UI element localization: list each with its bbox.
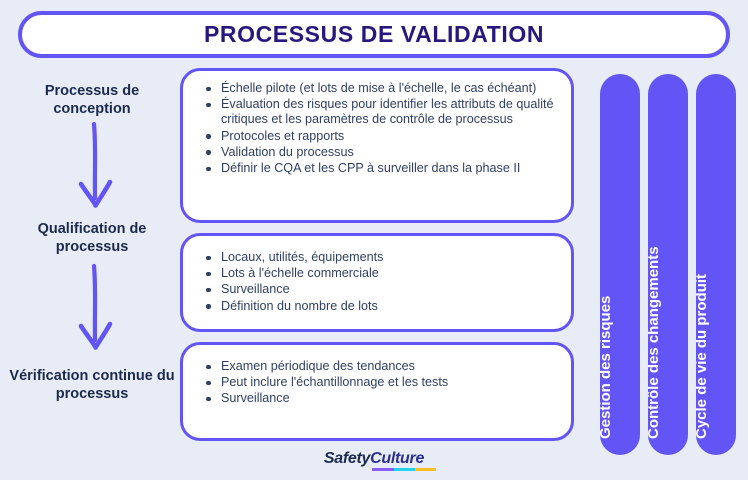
safetyculture-logo: SafetyCulture [0,450,748,468]
list-item: Surveillance [221,282,555,297]
pillar-product-lifecycle: Cycle de vie du produit [696,74,736,455]
pillar-label: Contrôle des changements [648,246,661,439]
list-item: Peut inclure l'échantillonnage et les te… [221,375,555,390]
list-item: Définition du nombre de lots [221,299,555,314]
list-item: Examen périodique des tendances [221,359,555,374]
bullet-list-qualification: Locaux, utilités, équipements Lots à l'é… [183,236,571,325]
logo-underline [372,468,436,471]
logo-underline-segment-purple [372,468,394,471]
pillar-label: Gestion des risques [600,296,613,439]
list-item: Lots à l'échelle commerciale [221,266,555,281]
list-item: Validation du processus [221,145,555,160]
arrow-down-1-icon [63,120,129,216]
pillar-label: Cycle de vie du produit [696,274,709,439]
list-item: Surveillance [221,391,555,406]
list-item: Évaluation des risques pour identifier l… [221,97,555,127]
pillar-change-control: Contrôle des changements [648,74,688,455]
stage-label-qualification: Qualification de processus [8,220,176,256]
logo-underline-segment-yellow [415,468,436,471]
bullet-list-design: Échelle pilote (et lots de mise à l'éche… [183,71,571,187]
pillar-risk-management: Gestion des risques [600,74,640,455]
bullet-list-continued-verification: Examen périodique des tendances Peut inc… [183,345,571,418]
arrow-down-2-icon [63,262,129,358]
content-box-qualification: Locaux, utilités, équipements Lots à l'é… [180,233,574,332]
stage-label-continued-verification: Vérification continue du processus [8,367,176,403]
list-item: Échelle pilote (et lots de mise à l'éche… [221,81,555,96]
stage-column: Processus de conception Qualification de… [8,72,176,456]
title-banner: PROCESSUS DE VALIDATION [18,11,730,58]
logo-text-culture: Culture [370,450,424,467]
list-item: Locaux, utilités, équipements [221,250,555,265]
logo-underline-segment-cyan [394,468,415,471]
list-item: Définir le CQA et les CPP à surveiller d… [221,161,555,176]
logo-inner: SafetyCulture [324,450,424,468]
stage-label-design: Processus de conception [8,82,176,118]
page-title: PROCESSUS DE VALIDATION [204,21,544,48]
content-box-continued-verification: Examen périodique des tendances Peut inc… [180,342,574,441]
list-item: Protocoles et rapports [221,129,555,144]
logo-text-safety: Safety [324,450,370,467]
content-box-design: Échelle pilote (et lots de mise à l'éche… [180,68,574,223]
